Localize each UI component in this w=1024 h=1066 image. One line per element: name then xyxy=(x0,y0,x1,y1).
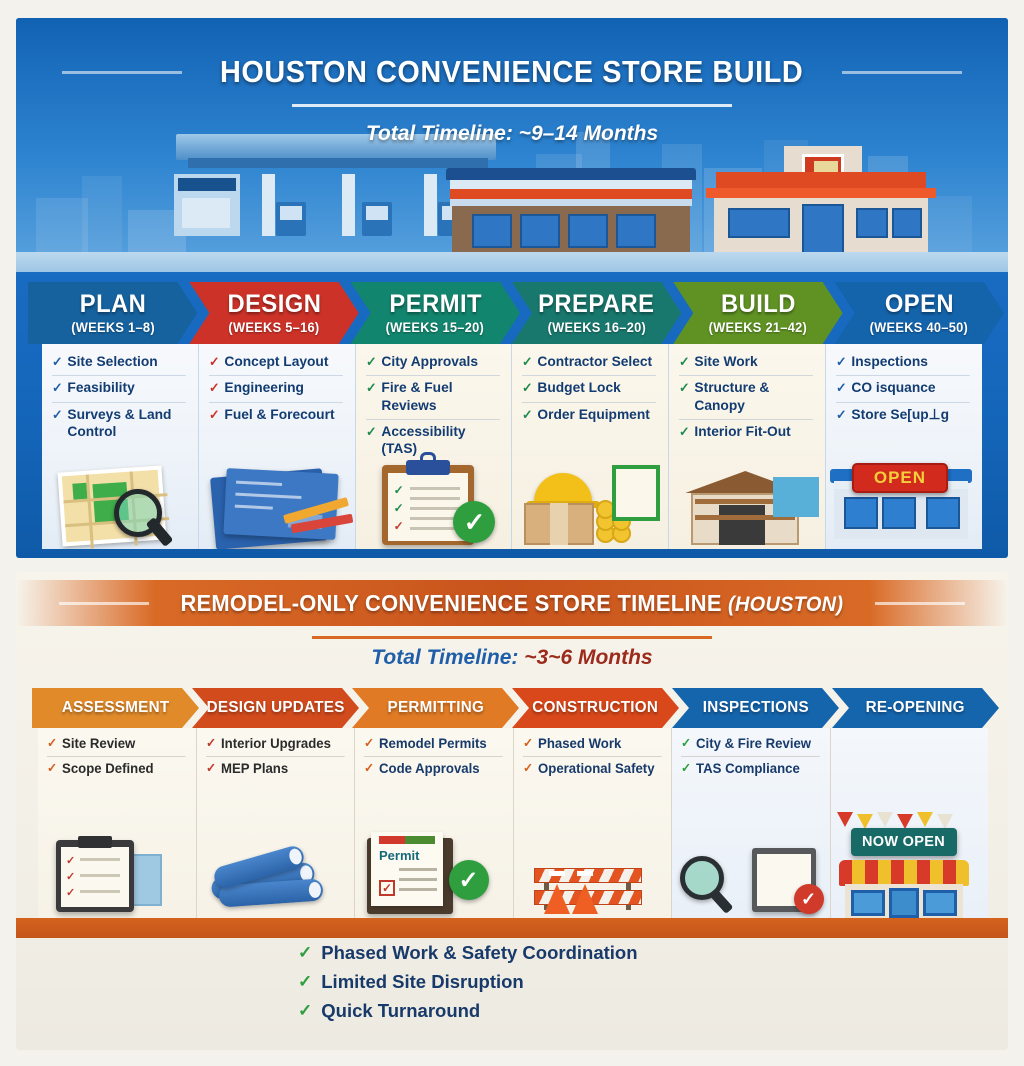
check-icon: ✓ xyxy=(209,407,220,424)
list-item: ✓Limited Site Disruption xyxy=(298,971,1008,993)
remodel-header-inspections[interactable]: INSPECTIONS xyxy=(672,688,839,728)
bullet-label: Concept Layout xyxy=(224,354,328,371)
list-item: ✓Scope Defined xyxy=(47,761,185,781)
phase-bullet-list: ✓City & Fire Review ✓TAS Compliance xyxy=(681,736,824,782)
bullet-label: Feasibility xyxy=(67,380,134,397)
remodel-column-re-opening: NOW OPEN xyxy=(831,728,989,918)
phase-header-plan[interactable]: PLAN (WEEKS 1–8) xyxy=(28,282,197,344)
check-icon: ✓ xyxy=(523,736,533,752)
list-item: ✓Code Approvals xyxy=(364,761,502,781)
check-icon: ✓ xyxy=(298,972,312,992)
phase-header-permit[interactable]: PERMIT (WEEKS 15–20) xyxy=(351,282,520,344)
phase-bullet-list: ✓Phased Work ✓Operational Safety xyxy=(523,736,666,782)
clipboard-approved-icon: ✓ ✓ ✓ ✓ xyxy=(356,455,512,547)
remodel-title-main: REMODEL-ONLY CONVENIENCE STORE TIMELINE xyxy=(181,590,729,616)
build-phase-header-strip: PLAN (WEEKS 1–8) DESIGN (WEEKS 5–16) PER… xyxy=(28,282,996,344)
bullet-label: Surveys & Land Control xyxy=(67,407,185,442)
bullet-label: Site Selection xyxy=(67,354,157,371)
phase-header-build[interactable]: BUILD (WEEKS 21–42) xyxy=(673,282,842,344)
remodel-rule-right xyxy=(875,602,965,605)
phase-name: RE-OPENING xyxy=(866,699,965,717)
bullet-label: Engineering xyxy=(224,380,304,397)
remodel-header-construction[interactable]: CONSTRUCTION xyxy=(512,688,679,728)
now-open-shop-icon: NOW OPEN xyxy=(831,728,989,918)
phase-weeks: (WEEKS 1–8) xyxy=(71,320,155,335)
check-icon: ✓ xyxy=(522,407,533,424)
remodel-title-underline xyxy=(312,636,712,639)
phase-name: ASSESSMENT xyxy=(62,699,170,717)
build-phase-columns: ✓Site Selection ✓Feasibility ✓Surveys & … xyxy=(42,344,982,549)
check-icon: ✓ xyxy=(52,380,63,397)
phase-bullet-list: ✓Remodel Permits ✓Code Approvals xyxy=(364,736,507,782)
benefit-label: Limited Site Disruption xyxy=(321,971,523,993)
bullet-label: Site Review xyxy=(62,736,135,752)
now-open-sign: NOW OPEN xyxy=(851,828,957,856)
list-item: ✓Remodel Permits xyxy=(364,736,502,757)
build-title-row: HOUSTON CONVENIENCE STORE BUILD xyxy=(16,54,1008,90)
phase-weeks: (WEEKS 15–20) xyxy=(386,320,485,335)
check-icon: ✓ xyxy=(679,354,690,371)
hero-ground xyxy=(16,252,1008,272)
red-check-badge-icon: ✓ xyxy=(794,884,824,914)
phase-weeks: (WEEKS 5–16) xyxy=(228,320,319,335)
bullet-label: City & Fire Review xyxy=(696,736,811,752)
list-item: ✓Feasibility xyxy=(52,380,186,402)
check-icon: ✓ xyxy=(836,407,847,424)
bullet-label: Code Approvals xyxy=(379,761,480,777)
bullet-label: Accessibility (TAS) xyxy=(381,424,499,459)
blueprint-rolls-icon xyxy=(197,824,355,916)
list-item: ✓Site Work xyxy=(679,354,813,376)
phase-column-permit: ✓City Approvals ✓Fire & Fuel Reviews ✓Ac… xyxy=(356,344,513,549)
check-icon: ✓ xyxy=(522,354,533,371)
check-icon: ✓ xyxy=(52,354,63,371)
remodel-header-design-updates[interactable]: DESIGN UPDATES xyxy=(192,688,359,728)
bullet-label: MEP Plans xyxy=(221,761,288,777)
remodel-header-assessment[interactable]: ASSESSMENT xyxy=(32,688,199,728)
check-icon: ✓ xyxy=(836,354,847,371)
infographic-page: HOUSTON CONVENIENCE STORE BUILD Total Ti… xyxy=(0,0,1024,1066)
build-main-title: HOUSTON CONVENIENCE STORE BUILD xyxy=(220,54,803,90)
bullet-label: Scope Defined xyxy=(62,761,154,777)
convenience-store-illustration-a xyxy=(446,168,696,254)
remodel-subtitle-label: Total Timeline: xyxy=(371,646,524,669)
phase-weeks: (WEEKS 21–42) xyxy=(709,320,808,335)
bullet-label: Inspections xyxy=(852,354,928,371)
check-icon: ✓ xyxy=(47,761,57,777)
remodel-phase-header-strip: ASSESSMENT DESIGN UPDATES PERMITTING CON… xyxy=(32,688,992,728)
phase-name: OPEN xyxy=(885,291,954,317)
phase-bullet-list: ✓Site Review ✓Scope Defined xyxy=(47,736,190,782)
phase-header-prepare[interactable]: PREPARE (WEEKS 16–20) xyxy=(512,282,681,344)
bullet-label: Budget Lock xyxy=(538,380,621,397)
check-icon: ✓ xyxy=(47,736,57,752)
bullet-label: Site Work xyxy=(695,354,758,371)
phase-header-open[interactable]: OPEN (WEEKS 40–50) xyxy=(835,282,1004,344)
remodel-subtitle-value: ~3~6 Months xyxy=(524,646,652,669)
bullet-label: Interior Upgrades xyxy=(221,736,331,752)
list-item: ✓TAS Compliance xyxy=(681,761,819,781)
build-subtitle: Total Timeline: ~9–14 Months xyxy=(16,122,1008,146)
phase-weeks: (WEEKS 40–50) xyxy=(870,320,969,335)
remodel-title-location: (HOUSTON) xyxy=(728,593,843,616)
remodel-floor-band xyxy=(16,918,1008,938)
check-icon: ✓ xyxy=(836,380,847,397)
blueprints-pencils-icon xyxy=(199,455,355,547)
remodel-subtitle: Total Timeline: ~3~6 Months xyxy=(16,646,1008,670)
clipboard-review-icon: ✓ ✓ ✓ xyxy=(38,824,196,916)
list-item: ✓Inspections xyxy=(836,354,970,376)
bullet-label: Fuel & Forecourt xyxy=(224,407,334,424)
list-item: ✓Interior Fit-Out xyxy=(679,424,813,445)
hero-banner: HOUSTON CONVENIENCE STORE BUILD Total Ti… xyxy=(16,18,1008,272)
check-icon: ✓ xyxy=(522,380,533,397)
check-icon: ✓ xyxy=(209,354,220,371)
list-item: ✓City & Fire Review xyxy=(681,736,819,757)
phase-name: PERMITTING xyxy=(387,699,484,717)
check-icon: ✓ xyxy=(52,407,63,424)
list-item: ✓City Approvals xyxy=(366,354,500,376)
check-icon: ✓ xyxy=(298,1001,312,1021)
barricade-cones-icon xyxy=(514,824,672,916)
list-item: ✓MEP Plans xyxy=(206,761,344,781)
list-item: ✓Structure & Canopy xyxy=(679,380,813,420)
bullet-label: CO isquance xyxy=(852,380,936,397)
bullet-label: TAS Compliance xyxy=(696,761,800,777)
list-item: ✓Store Se[up⊥g xyxy=(836,407,970,428)
title-rule-left xyxy=(62,71,182,74)
phase-name: INSPECTIONS xyxy=(702,699,808,717)
remodel-rule-left xyxy=(59,602,149,605)
remodel-phase-columns: ✓Site Review ✓Scope Defined ✓ ✓ ✓ xyxy=(38,728,988,918)
phase-bullet-list: ✓City Approvals ✓Fire & Fuel Reviews ✓Ac… xyxy=(366,354,504,463)
phase-bullet-list: ✓Site Work ✓Structure & Canopy ✓Interior… xyxy=(679,354,817,445)
remodel-title: REMODEL-ONLY CONVENIENCE STORE TIMELINE … xyxy=(181,590,844,617)
phase-name: PREPARE xyxy=(538,291,654,317)
phase-weeks: (WEEKS 16–20) xyxy=(547,320,646,335)
permit-doc-label: Permit xyxy=(379,848,419,863)
remodel-header-re-opening[interactable]: RE-OPENING xyxy=(832,688,999,728)
remodel-column-assessment: ✓Site Review ✓Scope Defined ✓ ✓ ✓ xyxy=(38,728,197,918)
phase-name: DESIGN UPDATES xyxy=(206,699,344,717)
phase-name: DESIGN xyxy=(227,291,321,317)
check-icon: ✓ xyxy=(364,761,374,777)
open-sign: OPEN xyxy=(852,463,948,493)
list-item: ✓Budget Lock xyxy=(522,380,656,402)
remodel-column-design-updates: ✓Interior Upgrades ✓MEP Plans xyxy=(197,728,356,918)
list-item: ✓Site Selection xyxy=(52,354,186,376)
check-icon: ✓ xyxy=(366,354,377,371)
check-icon: ✓ xyxy=(679,380,690,397)
magnifier-checklist-icon: ✓ xyxy=(672,824,830,916)
phase-bullet-list: ✓Site Selection ✓Feasibility ✓Surveys & … xyxy=(52,354,190,445)
bullet-label: Phased Work xyxy=(538,736,621,752)
check-icon: ✓ xyxy=(523,761,533,777)
phase-name: BUILD xyxy=(721,291,796,317)
list-item: ✓Order Equipment xyxy=(522,407,656,428)
build-timeline-panel: HOUSTON CONVENIENCE STORE BUILD Total Ti… xyxy=(16,18,1008,558)
list-item: ✓Engineering xyxy=(209,380,343,402)
phase-header-design[interactable]: DESIGN (WEEKS 5–16) xyxy=(189,282,358,344)
remodel-benefits-list: ✓Phased Work & Safety Coordination ✓Limi… xyxy=(16,942,1008,1029)
green-check-badge-icon: ✓ xyxy=(449,860,489,900)
list-item: ✓Phased Work & Safety Coordination xyxy=(298,942,1008,964)
phase-name: PLAN xyxy=(79,291,146,317)
list-item: ✓Operational Safety xyxy=(523,761,661,781)
phase-column-design: ✓Concept Layout ✓Engineering ✓Fuel & For… xyxy=(199,344,356,549)
check-icon: ✓ xyxy=(366,380,377,397)
convenience-store-illustration-b xyxy=(706,146,936,256)
remodel-column-inspections: ✓City & Fire Review ✓TAS Compliance ✓ xyxy=(672,728,831,918)
bullet-label: Order Equipment xyxy=(538,407,650,424)
phase-name: CONSTRUCTION xyxy=(533,699,659,717)
check-icon: ✓ xyxy=(209,380,220,397)
benefit-label: Phased Work & Safety Coordination xyxy=(321,942,637,964)
phase-bullet-list: ✓Contractor Select ✓Budget Lock ✓Order E… xyxy=(522,354,660,428)
check-icon: ✓ xyxy=(206,761,216,777)
check-icon: ✓ xyxy=(681,761,691,777)
build-title-underline xyxy=(292,104,732,107)
check-icon: ✓ xyxy=(364,736,374,752)
list-item: ✓Fuel & Forecourt xyxy=(209,407,343,428)
building-construction-icon xyxy=(669,455,825,547)
bullet-label: Interior Fit-Out xyxy=(695,424,791,441)
list-item: ✓Concept Layout xyxy=(209,354,343,376)
phase-name: PERMIT xyxy=(389,291,482,317)
open-storefront-icon: OPEN xyxy=(826,455,982,547)
phase-bullet-list: ✓Interior Upgrades ✓MEP Plans xyxy=(206,736,349,782)
remodel-title-bar: REMODEL-ONLY CONVENIENCE STORE TIMELINE … xyxy=(16,580,1008,626)
permit-approved-icon: Permit ✓ ✓ xyxy=(355,824,513,916)
bullet-label: Structure & Canopy xyxy=(695,380,813,415)
bullet-label: Contractor Select xyxy=(538,354,653,371)
list-item: ✓CO isquance xyxy=(836,380,970,402)
site-map-magnifier-icon xyxy=(42,455,198,547)
remodel-column-permitting: ✓Remodel Permits ✓Code Approvals Permit … xyxy=(355,728,514,918)
bullet-label: Remodel Permits xyxy=(379,736,487,752)
hardhat-budget-box-icon xyxy=(512,455,668,547)
check-icon: ✓ xyxy=(679,424,690,441)
phase-column-build: ✓Site Work ✓Structure & Canopy ✓Interior… xyxy=(669,344,826,549)
list-item: ✓Site Review xyxy=(47,736,185,757)
green-check-badge-icon: ✓ xyxy=(453,501,495,543)
phase-bullet-list: ✓Concept Layout ✓Engineering ✓Fuel & For… xyxy=(209,354,347,428)
phase-column-prepare: ✓Contractor Select ✓Budget Lock ✓Order E… xyxy=(512,344,669,549)
check-icon: ✓ xyxy=(206,736,216,752)
list-item: ✓Phased Work xyxy=(523,736,661,757)
check-icon: ✓ xyxy=(681,736,691,752)
title-rule-right xyxy=(842,71,962,74)
remodel-timeline-panel: REMODEL-ONLY CONVENIENCE STORE TIMELINE … xyxy=(16,572,1008,1050)
benefit-label: Quick Turnaround xyxy=(321,1000,480,1022)
phase-column-open: ✓Inspections ✓CO isquance ✓Store Se[up⊥g… xyxy=(826,344,982,549)
remodel-column-construction: ✓Phased Work ✓Operational Safety xyxy=(514,728,673,918)
list-item: ✓Fire & Fuel Reviews xyxy=(366,380,500,420)
bullet-label: Operational Safety xyxy=(538,761,655,777)
list-item: ✓Surveys & Land Control xyxy=(52,407,186,446)
phase-bullet-list: ✓Inspections ✓CO isquance ✓Store Se[up⊥g xyxy=(836,354,974,428)
check-icon: ✓ xyxy=(366,424,377,441)
list-item: ✓Interior Upgrades xyxy=(206,736,344,757)
check-icon: ✓ xyxy=(298,943,312,963)
bullet-label: Fire & Fuel Reviews xyxy=(381,380,499,415)
remodel-header-permitting[interactable]: PERMITTING xyxy=(352,688,519,728)
list-item: ✓Quick Turnaround xyxy=(298,1000,1008,1022)
phase-column-plan: ✓Site Selection ✓Feasibility ✓Surveys & … xyxy=(42,344,199,549)
bullet-label: Store Se[up⊥g xyxy=(852,407,950,424)
list-item: ✓Contractor Select xyxy=(522,354,656,376)
bullet-label: City Approvals xyxy=(381,354,478,371)
